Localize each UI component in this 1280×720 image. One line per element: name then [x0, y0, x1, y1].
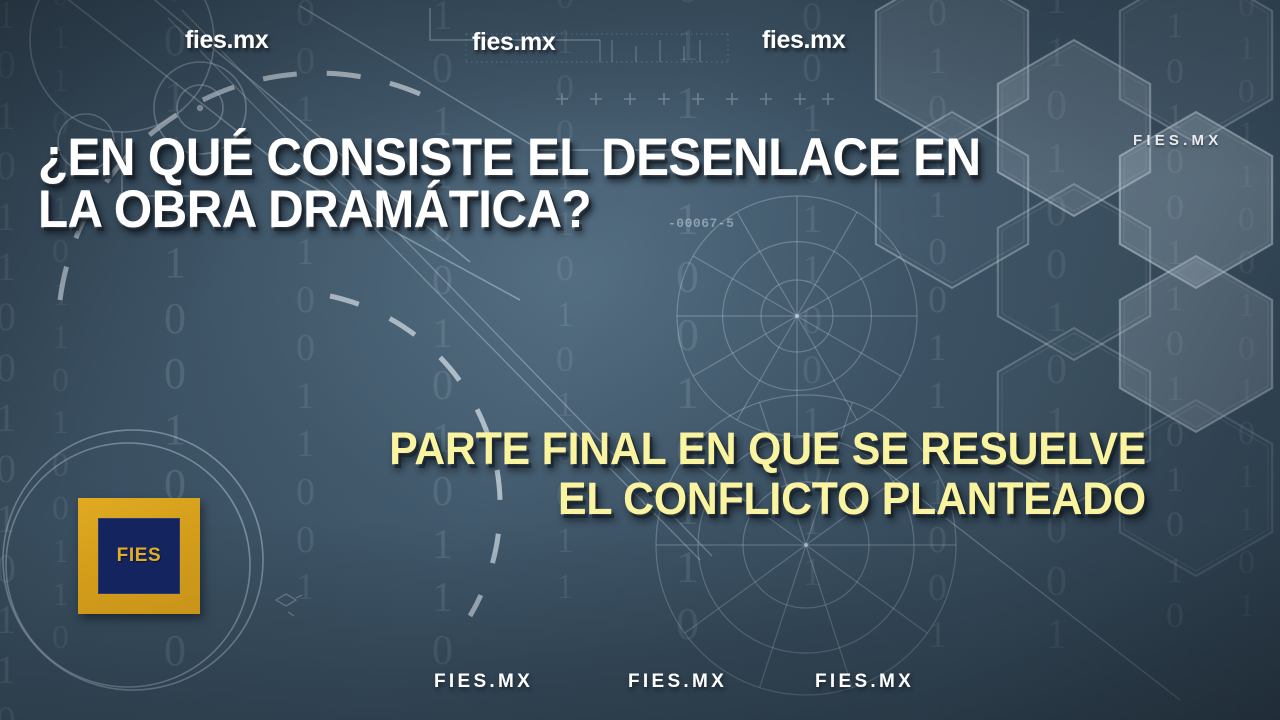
watermark-bottom: FIES.MX [815, 671, 914, 693]
fies-logo-inner: FIES [98, 518, 180, 594]
watermark-top: fies.mx [185, 26, 268, 55]
thumbnail-canvas: 1 0 1 0 1 1 0 0 1 0 1 0 1 1 00 1 1 0 0 1… [0, 0, 1280, 720]
page-title: ¿EN QUÉ CONSISTE EL DESENLACE EN LA OBRA… [38, 132, 1061, 237]
fies-logo[interactable]: FIES [78, 498, 200, 614]
watermark-top: fies.mx [472, 28, 555, 57]
watermark-top: fies.mx [762, 26, 845, 55]
watermark-bottom: FIES.MX [628, 671, 727, 693]
answer-text: PARTE FINAL EN QUE SE RESUELVE EL CONFLI… [57, 424, 1146, 525]
fies-logo-label: FIES [117, 545, 162, 567]
hexagon-watermark: FIES.MX [1133, 132, 1222, 149]
watermark-bottom: FIES.MX [434, 671, 533, 693]
